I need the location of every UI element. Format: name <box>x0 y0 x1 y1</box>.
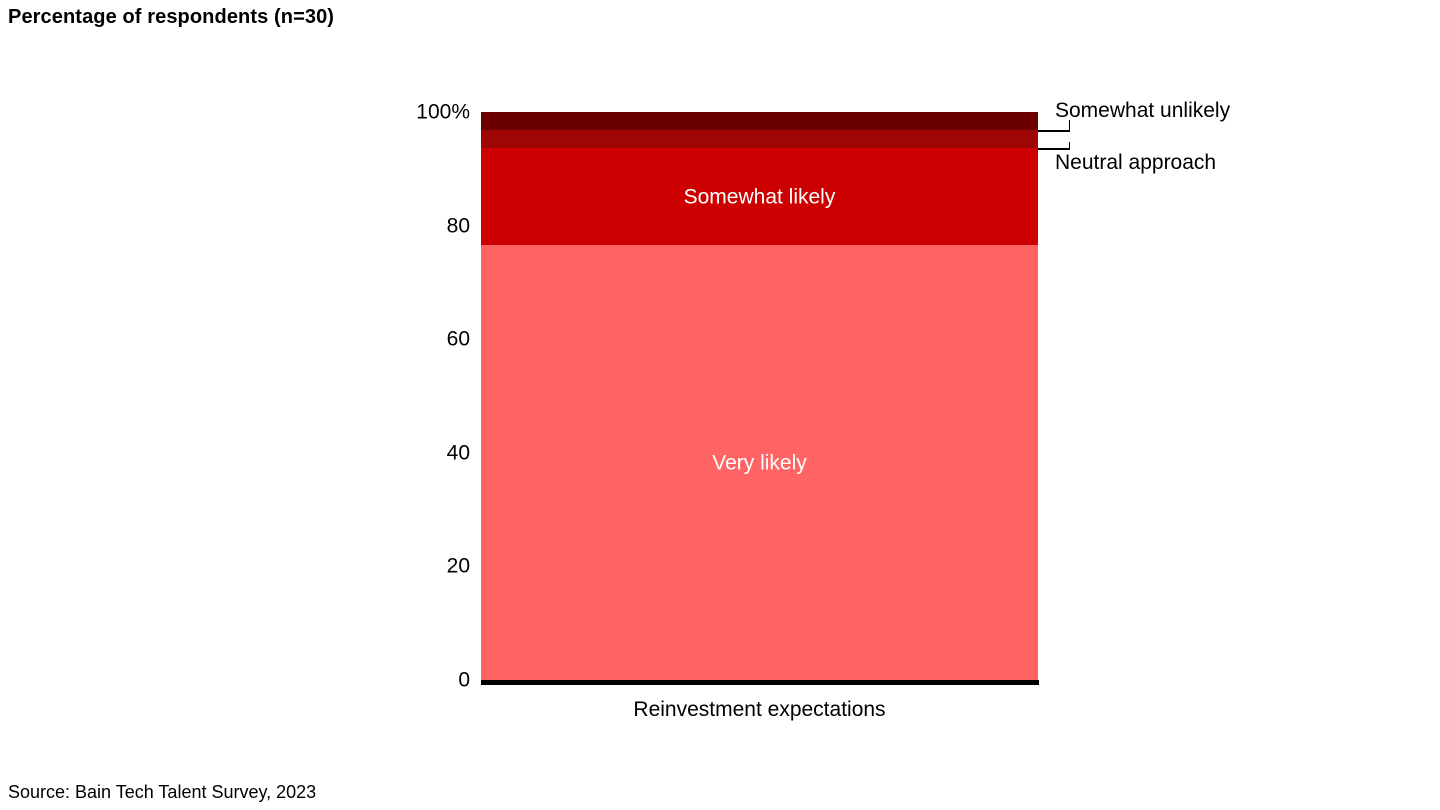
x-axis-category-label: Reinvestment expectations <box>481 698 1038 722</box>
bar-label-very-likely: Very likely <box>481 452 1038 473</box>
y-tick-label-0: 0 <box>458 670 470 691</box>
plot-area: Somewhat likely Very likely <box>481 112 1038 680</box>
bar-segment-somewhat-likely[interactable]: Somewhat likely <box>481 148 1038 245</box>
bar-segment-neutral-approach[interactable] <box>481 130 1038 149</box>
callout-label-somewhat-unlikely: Somewhat unlikely <box>1055 100 1230 121</box>
bar-label-somewhat-likely: Somewhat likely <box>481 186 1038 207</box>
y-tick-label-40: 40 <box>447 442 470 463</box>
y-tick-label-60: 60 <box>447 329 470 350</box>
y-tick-label-100: 100% <box>416 102 470 123</box>
x-axis-baseline <box>481 680 1039 685</box>
bar-segment-very-likely[interactable]: Very likely <box>481 245 1038 680</box>
callout-leader-horizontal-somewhat-unlikely <box>1038 130 1070 132</box>
page-title: Percentage of respondents (n=30) <box>8 6 334 29</box>
source-note: Source: Bain Tech Talent Survey, 2023 <box>8 782 316 802</box>
bar-segment-somewhat-unlikely[interactable] <box>481 112 1038 130</box>
callout-leader-horizontal-neutral-approach <box>1038 148 1070 150</box>
callout-label-neutral-approach: Neutral approach <box>1055 152 1216 173</box>
y-tick-label-20: 20 <box>447 556 470 577</box>
callout-leader-vertical-neutral-approach <box>1069 142 1071 149</box>
y-tick-label-80: 80 <box>447 215 470 236</box>
